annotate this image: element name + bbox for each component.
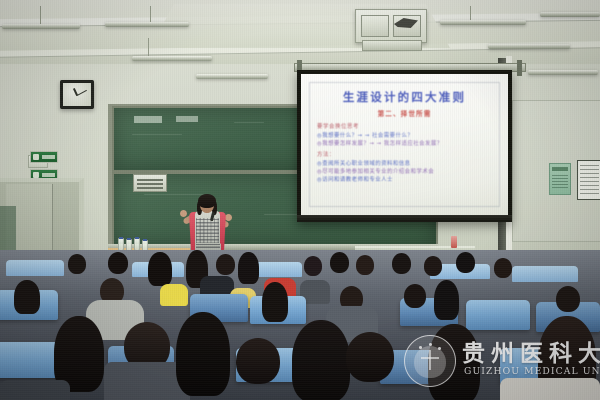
fluorescent-tube — [196, 74, 268, 79]
fluorescent-tube — [528, 70, 598, 75]
notice-row — [580, 169, 599, 170]
light-rod — [40, 6, 41, 24]
plaque-line — [137, 187, 163, 189]
plaque-line — [137, 179, 163, 181]
clock-minute-hand — [77, 89, 87, 95]
audience-head-foreground — [428, 324, 480, 400]
fluorescent-tube — [105, 22, 189, 27]
audience-head — [556, 286, 580, 312]
ceiling-mounted-unit — [355, 9, 427, 43]
audience-head — [304, 256, 322, 276]
presenter-dress-pattern — [196, 218, 219, 244]
photo-lecture-hall: 生涯设计的四大准则 第二、择世所需 要学会换位思考 ◎我想要什么？→ → 社会需… — [0, 0, 600, 400]
audience-head — [68, 254, 86, 274]
light-rod — [470, 6, 471, 20]
light-rod — [148, 38, 149, 56]
audience-head-foreground — [236, 338, 280, 384]
red-cup — [451, 236, 457, 248]
projection-screen: 生涯设计的四大准则 第二、择世所需 要学会换位思考 ◎我想要什么？→ → 社会需… — [297, 70, 512, 222]
presenter-hair — [198, 194, 216, 208]
bottle-cap — [119, 237, 123, 239]
audience-head-foreground — [346, 332, 394, 382]
board-posted-note — [134, 116, 162, 123]
bottle-cap — [135, 237, 139, 239]
audience-head — [456, 252, 475, 273]
unit-vent — [362, 40, 422, 51]
slide-lead-text: 要学会换位思考 — [317, 122, 492, 130]
auditorium-seat[interactable] — [466, 300, 530, 330]
presenter-right-hand — [225, 214, 232, 221]
notice-row — [580, 173, 599, 174]
fluorescent-tube — [440, 20, 526, 25]
notice-row — [580, 177, 599, 178]
poster-text-line — [552, 178, 568, 179]
plaque-line — [137, 183, 163, 185]
slide-bullet: ◎我想要什么？→ → 社会需要什么？ — [317, 132, 492, 140]
light-rod — [150, 6, 151, 22]
audience-head — [14, 280, 40, 314]
rail-bracket — [517, 60, 522, 76]
slide-method-bullet: ◎访问和请教老师和专业人士 — [317, 176, 492, 184]
fluorescent-tube — [2, 24, 80, 29]
audience-head — [356, 255, 374, 275]
poster-heading — [552, 167, 568, 171]
fluorescent-tube — [488, 44, 570, 49]
slide-method-bullet: ◎查阅所关心职业领域的资料和信息 — [317, 160, 492, 168]
notice-row — [580, 193, 599, 194]
slide-method-label: 方法： — [317, 150, 492, 158]
audience-body — [0, 380, 70, 400]
wall-plaque — [133, 174, 167, 192]
slide-method-bullet: ◎尽可能多地参加相关专业的介绍会和学术会 — [317, 168, 492, 176]
board-posted-note — [176, 116, 198, 122]
audience-head — [424, 256, 442, 276]
slide-subtitle: 第二、择世所需 — [317, 108, 492, 118]
poster-text-line — [552, 187, 568, 188]
slide-bullet: ◎我想要怎样发展？→ → 我怎样适应社会发展？ — [317, 140, 492, 148]
projection-screen-surface: 生涯设计的四大准则 第二、择世所需 要学会换位思考 ◎我想要什么？→ → 社会需… — [301, 74, 508, 215]
audience-area — [0, 250, 600, 400]
audience-head — [494, 258, 512, 278]
audience-head — [330, 252, 349, 273]
fluorescent-tube — [540, 12, 600, 17]
audience-head — [238, 252, 259, 284]
notice-row — [580, 185, 599, 186]
audience-body — [500, 378, 600, 400]
bottle-cap — [143, 239, 147, 241]
notice-row — [580, 189, 599, 190]
audience-head — [262, 282, 288, 322]
exit-sign-text — [42, 155, 55, 159]
seat-back — [6, 260, 64, 276]
poster-text-line — [552, 184, 568, 185]
audience-head — [216, 254, 235, 275]
poster-text-line — [552, 175, 568, 176]
notice-row — [580, 181, 599, 182]
emergency-exit-sign — [30, 151, 58, 163]
audience-head-foreground — [176, 312, 230, 396]
bottle-cap — [127, 238, 131, 240]
green-notice-poster — [549, 163, 571, 195]
screen-bottom-bar — [297, 215, 512, 222]
wall-clock — [60, 80, 94, 109]
audience-head — [434, 280, 459, 320]
exit-sign-text — [42, 173, 55, 177]
audience-body — [160, 284, 188, 306]
presentation-slide: 生涯设计的四大准则 第二、择世所需 要学会换位思考 ◎我想要什么？→ → 社会需… — [309, 82, 500, 207]
clock-face — [63, 83, 91, 106]
running-person-icon — [33, 154, 39, 160]
slide-title: 生涯设计的四大准则 — [317, 91, 492, 104]
notice-row — [580, 165, 599, 166]
unit-panel-left — [361, 15, 389, 37]
audience-head — [148, 252, 172, 286]
fluorescent-tube — [132, 56, 212, 61]
audience-head — [404, 284, 426, 308]
poster-text-line — [552, 181, 568, 182]
seat-back — [512, 266, 578, 282]
framed-schedule-notice — [577, 160, 600, 200]
audience-head-foreground — [292, 320, 350, 400]
chalk-mark — [234, 122, 264, 123]
audience-head — [108, 252, 128, 274]
presenter-left-hand — [180, 210, 187, 217]
auditorium-seat[interactable] — [0, 342, 60, 378]
chalk-mark — [132, 134, 182, 135]
audience-head — [392, 253, 411, 274]
